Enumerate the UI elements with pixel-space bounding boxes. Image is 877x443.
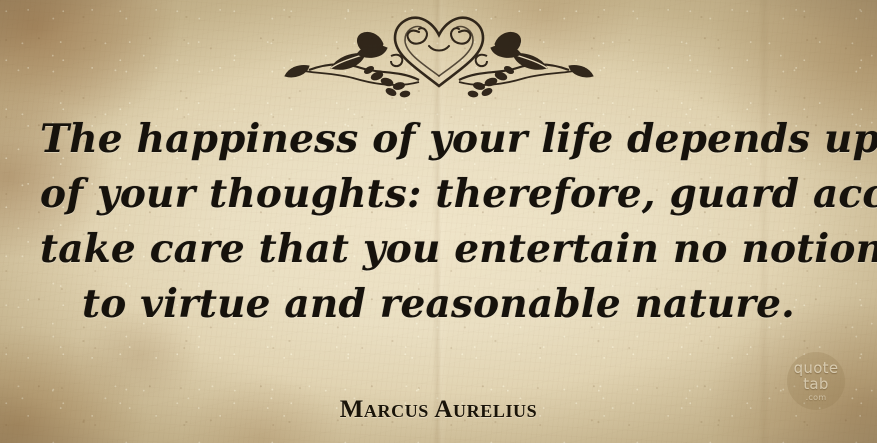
quote-text-block: The happiness of your life depends upon … bbox=[0, 112, 877, 332]
quote-author: Marcus Aurelius bbox=[0, 396, 877, 424]
heart-floral-flourish-icon bbox=[269, 8, 609, 100]
watermark-line-com: .com bbox=[806, 394, 827, 402]
quote-line-4: to virtue and reasonable nature. bbox=[40, 277, 837, 332]
watermark-line-tab: tab bbox=[803, 377, 829, 392]
quote-image-canvas: The happiness of your life depends upon … bbox=[0, 0, 877, 443]
quote-line-1: The happiness of your life depends upon … bbox=[40, 112, 837, 167]
quote-line-2: of your thoughts: therefore, guard accor… bbox=[40, 167, 837, 222]
watermark-line-quote: quote bbox=[794, 361, 839, 376]
quotetab-watermark-logo: quote tab .com bbox=[787, 352, 845, 410]
quote-line-3: take care that you entertain no notions … bbox=[40, 222, 837, 277]
